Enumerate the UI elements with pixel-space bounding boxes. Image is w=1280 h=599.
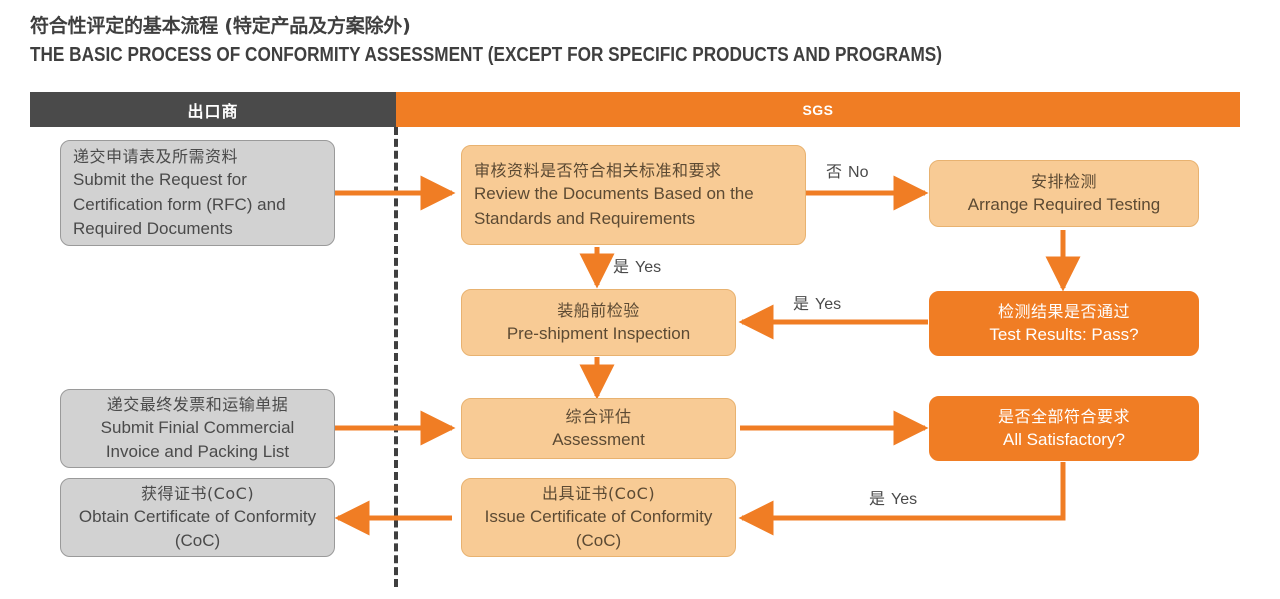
node-obtain-coc-en: Obtain Certificate of Conformity (CoC) (73, 505, 322, 553)
node-all-satisfactory[interactable]: 是否全部符合要求 All Satisfactory? (929, 396, 1199, 461)
node-arrange-testing[interactable]: 安排检测 Arrange Required Testing (929, 160, 1199, 227)
edge-label-yes2-en: Yes (815, 296, 841, 313)
node-submit-invoice-cn: 递交最终发票和运输单据 (107, 393, 289, 416)
edge-label-no-cn: 否 (826, 162, 842, 181)
node-arrange-testing-en: Arrange Required Testing (968, 193, 1160, 217)
node-submit-request[interactable]: 递交申请表及所需资料 Submit the Request for Certif… (60, 140, 335, 246)
edge-label-yes1-en: Yes (635, 259, 661, 276)
node-review-documents-en: Review the Documents Based on the Standa… (474, 182, 793, 230)
node-all-satisfactory-en: All Satisfactory? (1003, 428, 1125, 452)
node-test-results-pass-cn: 检测结果是否通过 (998, 300, 1130, 323)
node-issue-coc[interactable]: 出具证书(CoC) Issue Certificate of Conformit… (461, 478, 736, 557)
edge-label-no-en: No (848, 164, 868, 181)
node-issue-coc-en: Issue Certificate of Conformity (CoC) (474, 505, 723, 553)
swimlane-header-sgs: SGS (396, 92, 1240, 127)
node-pre-shipment-inspection-en: Pre-shipment Inspection (507, 322, 690, 346)
edge-label-yes-satisfactory-to-coc: 是Yes (869, 485, 917, 509)
node-submit-request-en: Submit the Request for Certification for… (73, 168, 322, 240)
page-title: 符合性评定的基本流程 (特定产品及方案除外) THE BASIC PROCESS… (30, 14, 1250, 69)
node-all-satisfactory-cn: 是否全部符合要求 (998, 405, 1130, 428)
node-submit-invoice[interactable]: 递交最终发票和运输单据 Submit Finial Commercial Inv… (60, 389, 335, 468)
edge-label-yes3-en: Yes (891, 491, 917, 508)
node-assessment[interactable]: 综合评估 Assessment (461, 398, 736, 459)
node-submit-invoice-en: Submit Finial Commercial Invoice and Pac… (73, 416, 322, 464)
edge-label-yes2-cn: 是 (793, 294, 809, 313)
edge-label-yes3-cn: 是 (869, 489, 885, 508)
node-issue-coc-cn: 出具证书(CoC) (542, 482, 655, 505)
edge-label-yes-pass-to-inspection: 是Yes (793, 290, 841, 314)
page-title-english: THE BASIC PROCESS OF CONFORMITY ASSESSME… (30, 42, 1079, 69)
page-title-chinese: 符合性评定的基本流程 (特定产品及方案除外) (30, 14, 1250, 40)
node-test-results-pass[interactable]: 检测结果是否通过 Test Results: Pass? (929, 291, 1199, 356)
edge-label-no-to-testing: 否No (826, 158, 868, 182)
node-obtain-coc-cn: 获得证书(CoC) (141, 482, 254, 505)
node-test-results-pass-en: Test Results: Pass? (989, 323, 1138, 347)
swimlane-divider (394, 127, 398, 587)
edge-label-yes1-cn: 是 (613, 257, 629, 276)
node-assessment-en: Assessment (552, 428, 645, 452)
node-review-documents[interactable]: 审核资料是否符合相关标准和要求 Review the Documents Bas… (461, 145, 806, 245)
node-obtain-coc[interactable]: 获得证书(CoC) Obtain Certificate of Conformi… (60, 478, 335, 557)
node-submit-request-cn: 递交申请表及所需资料 (73, 145, 238, 168)
swimlane-header-exporter: 出口商 (30, 92, 396, 127)
node-arrange-testing-cn: 安排检测 (1031, 170, 1097, 193)
node-review-documents-cn: 审核资料是否符合相关标准和要求 (474, 159, 722, 182)
node-pre-shipment-inspection[interactable]: 装船前检验 Pre-shipment Inspection (461, 289, 736, 356)
node-assessment-cn: 综合评估 (565, 405, 631, 428)
edge-label-yes-to-inspection: 是Yes (613, 253, 661, 277)
node-pre-shipment-inspection-cn: 装船前检验 (557, 299, 640, 322)
swimlane-header: 出口商 SGS (30, 92, 1240, 127)
